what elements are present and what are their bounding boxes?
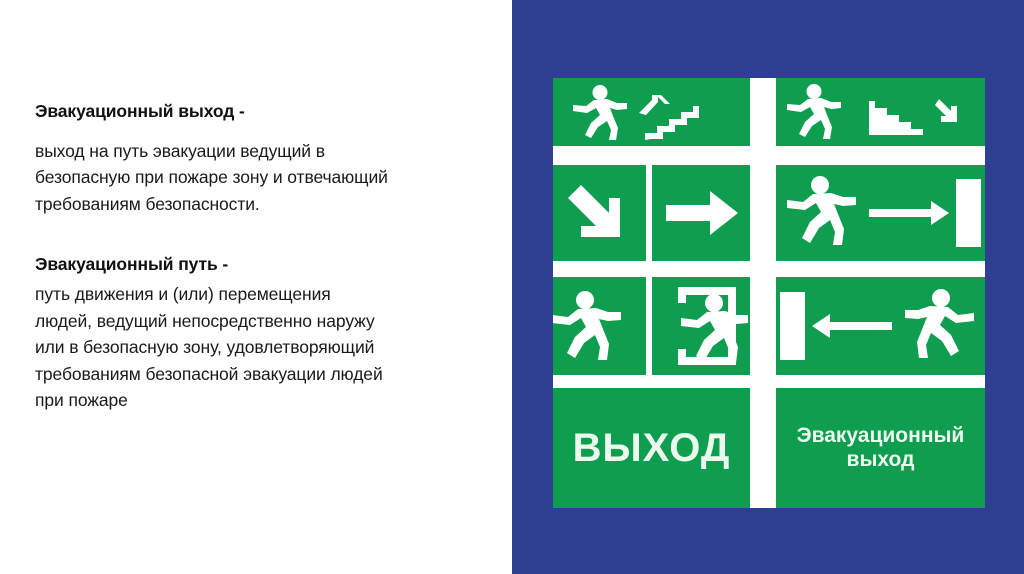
spacer [35,227,482,253]
sign-image-pane: ВЫХОД Эвакуационный выход [512,0,1024,574]
term-block-evacuation-route: Эвакуационный путь - путь движения и (ил… [35,253,482,414]
sign-cell-exit-text: ВЫХОД [553,388,750,508]
running-man-through-door-icon [652,277,750,375]
arrow-down-right-icon [553,165,646,261]
exit-label: ВЫХОД [553,388,750,508]
sign-cell-bottom-right [776,277,985,375]
term-heading-evacuation-exit: Эвакуационный выход - [35,100,482,124]
running-man-stairs-up-icon [553,78,750,146]
term-dash: - [234,101,245,121]
sign-cell-top-left [553,78,750,146]
running-man-arrow-right-door-icon [776,165,985,261]
sign-cell-middle-left [553,165,646,261]
emergency-exit-label-line1: Эвакуационный [797,424,965,447]
term-block-evacuation-exit: Эвакуационный выход - выход на путь эвак… [35,100,482,217]
term-title: Эвакуационный выход [35,101,234,121]
term-definition-evacuation-exit: выход на путь эвакуации ведущий в безопа… [35,138,390,218]
sign-cell-top-right [776,78,985,146]
sign-cell-bottom-left [553,277,646,375]
term-heading-evacuation-route: Эвакуационный путь - [35,253,482,277]
term-title: Эвакуационный путь [35,254,218,274]
emergency-exit-label-line2: выход [847,448,915,471]
sign-cell-middle-right [776,165,985,261]
definitions-pane: Эвакуационный выход - выход на путь эвак… [0,0,512,574]
sign-cell-bottom-center [652,277,750,375]
running-man-stairs-down-icon [776,78,985,146]
term-definition-evacuation-route: путь движения и (или) перемещения людей,… [35,281,390,414]
slide: Эвакуационный выход - выход на путь эвак… [0,0,1024,574]
door-arrow-left-running-man-icon [776,277,985,375]
sign-cell-emergency-exit-text: Эвакуационный выход [776,388,985,508]
emergency-exit-label: Эвакуационный выход [776,388,985,508]
term-dash: - [218,254,229,274]
running-man-right-icon [553,277,646,375]
evacuation-signs-grid: ВЫХОД Эвакуационный выход [553,78,985,508]
arrow-right-icon [652,165,750,261]
sign-cell-middle-center [652,165,750,261]
